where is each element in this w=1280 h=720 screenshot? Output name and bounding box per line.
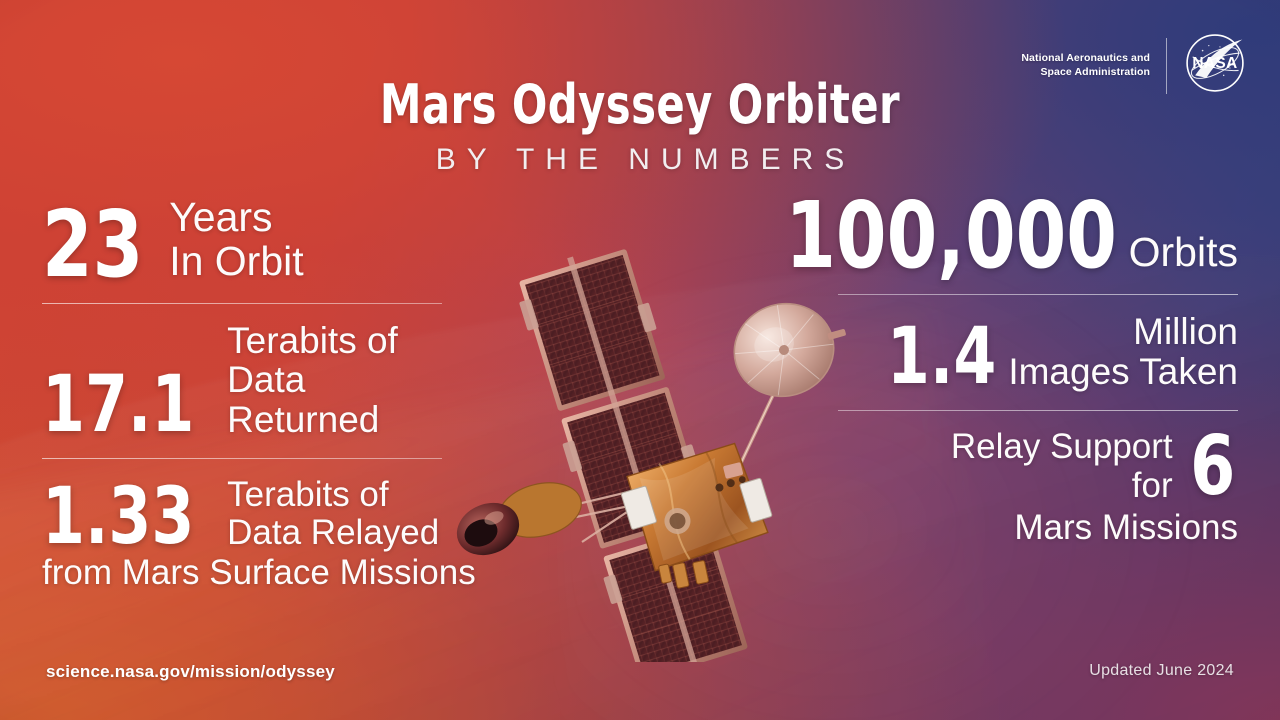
stats-column-right: 100,000 Orbits 1.4 Million Images Taken … — [838, 196, 1238, 548]
stat-label: Years In Orbit — [169, 196, 303, 284]
page-title: Mars Odyssey Orbiter — [90, 78, 1191, 132]
stats-column-left: 23 Years In Orbit 17.1 Terabits of Data … — [42, 196, 442, 593]
website-url[interactable]: science.nasa.gov/mission/odyssey — [46, 662, 335, 682]
stat-divider — [838, 410, 1238, 411]
updated-date: Updated June 2024 — [1089, 662, 1234, 680]
relay-value: 6 — [1190, 432, 1235, 503]
stat-orbits: 100,000 Orbits — [838, 196, 1238, 275]
instrument-pod — [449, 475, 587, 565]
stat-images-taken: 1.4 Million Images Taken — [838, 312, 1238, 391]
stat-value: 1.4 — [887, 324, 996, 391]
stat-divider — [838, 294, 1238, 295]
stat-divider — [42, 303, 442, 304]
page-subtitle: BY THE NUMBERS — [0, 143, 1280, 177]
stat-value: 23 — [42, 205, 143, 284]
nasa-wordmark: National Aeronautics and Space Administr… — [1021, 52, 1166, 80]
stat-data-returned: 17.1 Terabits of Data Returned — [42, 321, 442, 440]
stat-divider — [42, 458, 442, 459]
title-block: Mars Odyssey Orbiter BY THE NUMBERS — [0, 78, 1280, 177]
stat-value: 1.33 — [42, 484, 194, 551]
stat-label: Million Images Taken — [1008, 312, 1238, 391]
high-gain-antenna-dish — [723, 288, 852, 408]
stat-label: Terabits of Data Returned — [227, 321, 442, 440]
stat-relay-support: Relay Support for 6 Mars Missions — [838, 428, 1238, 548]
stat-years-in-orbit: 23 Years In Orbit — [42, 196, 442, 284]
infographic-poster: National Aeronautics and Space Administr… — [0, 0, 1280, 720]
svg-text:NASA: NASA — [1192, 55, 1237, 72]
relay-lead-text: Relay Support for — [951, 428, 1173, 505]
stat-value: 17.1 — [42, 372, 194, 439]
stat-data-relayed: 1.33 Terabits of Data Relayed from Mars … — [42, 476, 442, 592]
relay-tail-text: Mars Missions — [838, 509, 1238, 548]
stat-label: Orbits — [1129, 231, 1238, 275]
stat-label: Terabits of Data Relayed — [227, 476, 439, 551]
mars-odyssey-spacecraft — [432, 232, 852, 662]
